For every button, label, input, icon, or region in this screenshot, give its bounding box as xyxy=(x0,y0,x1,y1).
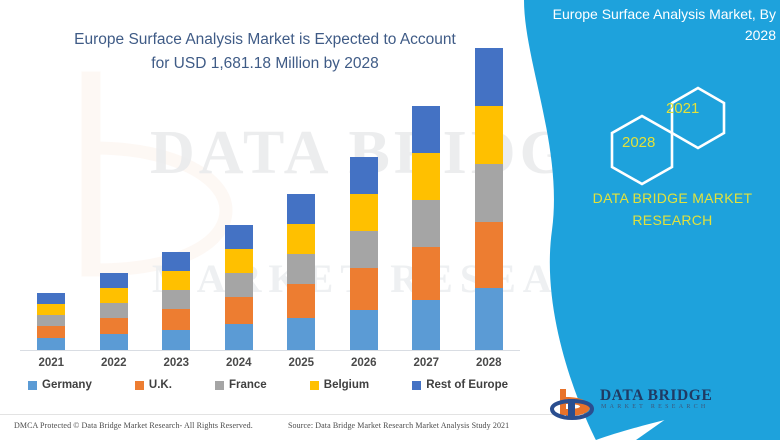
stacked-bar xyxy=(475,48,503,350)
panel-heading: Europe Surface Analysis Market, By 2028 xyxy=(536,4,776,46)
legend-swatch xyxy=(310,381,319,390)
stacked-bar-chart xyxy=(20,95,520,350)
legend-label: U.K. xyxy=(149,379,172,391)
bar-segment xyxy=(37,338,65,350)
bar-segment xyxy=(287,254,315,284)
footer-copyright: DMCA Protected © Data Bridge Market Rese… xyxy=(14,421,253,430)
data-bridge-logo: DATA BRIDGE MARKET RESEARCH xyxy=(548,385,718,423)
legend-label: Rest of Europe xyxy=(426,379,508,391)
chart-legend: GermanyU.K.FranceBelgiumRest of Europe xyxy=(28,375,508,395)
bar-segment xyxy=(412,300,440,350)
bar-segment xyxy=(162,330,190,350)
bar-segment xyxy=(412,153,440,200)
bar-segment xyxy=(225,249,253,273)
stacked-bar xyxy=(412,106,440,350)
bar-column xyxy=(333,95,395,350)
legend-label: Belgium xyxy=(324,379,369,391)
stacked-bar xyxy=(287,194,315,350)
bar-segment xyxy=(100,288,128,303)
bar-segment xyxy=(287,318,315,350)
legend-label: France xyxy=(229,379,267,391)
bar-column xyxy=(270,95,332,350)
bar-segment xyxy=(350,310,378,350)
bar-segment xyxy=(162,271,190,290)
panel-heading-line1: Europe Surface Analysis Market, By xyxy=(553,6,776,22)
bar-segment xyxy=(350,157,378,194)
bar-segment xyxy=(100,303,128,318)
legend-item: U.K. xyxy=(135,379,172,391)
legend-swatch xyxy=(412,381,421,390)
panel-brand-line1: DATA BRIDGE MARKET xyxy=(593,190,753,206)
bar-segment xyxy=(37,293,65,304)
bar-segment xyxy=(100,273,128,288)
bar-segment xyxy=(162,309,190,330)
legend-item: Belgium xyxy=(310,379,369,391)
bar-segment xyxy=(37,304,65,315)
bar-column xyxy=(208,95,270,350)
x-axis-label: 2027 xyxy=(395,352,457,374)
bar-segment xyxy=(225,225,253,249)
bar-column xyxy=(458,95,520,350)
bar-segment xyxy=(100,318,128,334)
bar-segment xyxy=(287,194,315,224)
hexagon-label-left: 2028 xyxy=(622,134,655,151)
legend-swatch xyxy=(135,381,144,390)
chart-title-line1: Europe Surface Analysis Market is Expect… xyxy=(74,31,456,48)
x-axis-line xyxy=(20,350,520,351)
logo-name-top: DATA BRIDGE xyxy=(600,387,712,405)
x-axis-label: 2023 xyxy=(145,352,207,374)
bar-segment xyxy=(350,268,378,310)
x-axis-label: 2028 xyxy=(458,352,520,374)
stacked-bar xyxy=(37,293,65,350)
bar-segment xyxy=(287,284,315,318)
bar-segment xyxy=(475,222,503,288)
hexagon-shapes-icon xyxy=(596,82,736,192)
legend-swatch xyxy=(28,381,37,390)
legend-item: France xyxy=(215,379,267,391)
bar-segment xyxy=(162,290,190,309)
bar-segment xyxy=(412,200,440,247)
legend-swatch xyxy=(215,381,224,390)
bar-column xyxy=(20,95,82,350)
bar-segment xyxy=(37,326,65,338)
x-axis-label: 2021 xyxy=(20,352,82,374)
x-axis-label: 2026 xyxy=(333,352,395,374)
bar-segment xyxy=(350,194,378,231)
bar-segment xyxy=(475,164,503,222)
bar-segment xyxy=(37,315,65,326)
stacked-bar xyxy=(100,273,128,350)
bar-segment xyxy=(287,224,315,254)
chart-title: Europe Surface Analysis Market is Expect… xyxy=(30,28,500,76)
panel-heading-line2: 2028 xyxy=(745,27,776,43)
chart-title-line2: for USD 1,681.18 Million by 2028 xyxy=(151,55,378,72)
panel-brand-line2: RESEARCH xyxy=(632,212,712,228)
legend-item: Germany xyxy=(28,379,92,391)
legend-label: Germany xyxy=(42,379,92,391)
bar-segment xyxy=(162,252,190,271)
x-axis-label: 2024 xyxy=(208,352,270,374)
bar-column xyxy=(145,95,207,350)
logo-name-bottom: MARKET RESEARCH xyxy=(601,404,709,410)
bar-column xyxy=(395,95,457,350)
bar-segment xyxy=(475,106,503,164)
bar-segment xyxy=(475,48,503,106)
bar-segment xyxy=(225,273,253,297)
infographic-canvas: DATA BRIDGE MARKET RESEARCH Europe Surfa… xyxy=(0,0,780,440)
x-axis-label: 2025 xyxy=(270,352,332,374)
hexagon-group: 2028 2021 xyxy=(596,82,736,192)
footer-source: Source: Data Bridge Market Research Mark… xyxy=(288,421,509,430)
bar-segment xyxy=(412,247,440,300)
bar-column xyxy=(83,95,145,350)
hexagon-label-right: 2021 xyxy=(666,100,699,117)
bar-segment xyxy=(350,231,378,268)
panel-brand-text: DATA BRIDGE MARKET RESEARCH xyxy=(570,188,775,231)
bar-segment xyxy=(412,106,440,153)
bar-segment xyxy=(475,288,503,350)
legend-item: Rest of Europe xyxy=(412,379,508,391)
bar-segment xyxy=(100,334,128,350)
stacked-bar xyxy=(162,252,190,350)
x-axis-labels: 20212022202320242025202620272028 xyxy=(20,352,520,374)
stacked-bar xyxy=(350,157,378,350)
stacked-bar xyxy=(225,225,253,350)
bar-segment xyxy=(225,324,253,350)
data-bridge-mark-icon xyxy=(548,385,598,423)
bar-segment xyxy=(225,297,253,324)
x-axis-label: 2022 xyxy=(83,352,145,374)
